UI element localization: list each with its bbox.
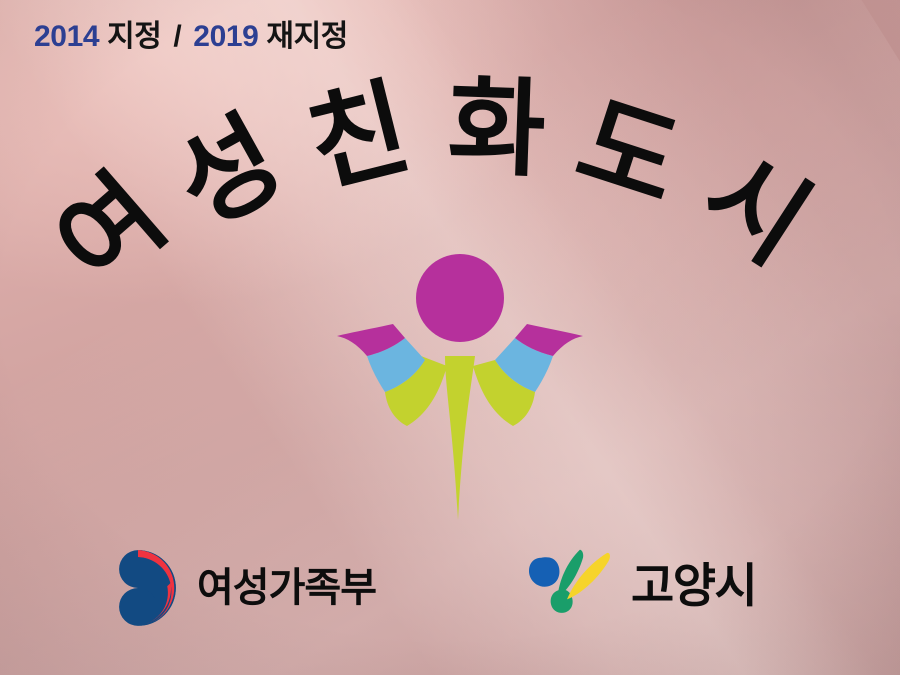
city-logo-block: 고양시 <box>527 545 756 625</box>
poster-canvas: 2014 지정 / 2019 재지정 여 성 친 화 도 시 <box>0 0 900 675</box>
designation-header: 2014 지정 / 2019 재지정 <box>34 22 348 52</box>
city-logo-label: 고양시 <box>631 562 756 609</box>
title-char-5: 도 <box>566 88 692 219</box>
designation-year-second: 2019 <box>193 20 258 53</box>
flower-emblem-icon <box>335 248 585 523</box>
ministry-logo-label: 여성가족부 <box>197 568 376 608</box>
footer-logos: 여성가족부 고양시 <box>0 537 900 647</box>
emblem-stem <box>445 356 475 520</box>
designation-year-first: 2014 <box>34 20 99 53</box>
goyang-city-mark-icon <box>527 545 615 625</box>
designation-separator: / <box>169 20 185 53</box>
title-char-6: 시 <box>686 138 826 280</box>
emblem-head-circle <box>416 254 504 342</box>
taegeuk-emblem-icon <box>95 545 181 631</box>
title-char-1: 여 <box>39 159 182 303</box>
designation-label-second: 재지정 <box>266 20 348 53</box>
designation-label-first: 지정 <box>107 20 161 53</box>
title-char-2: 성 <box>160 103 297 243</box>
ministry-logo-block: 여성가족부 <box>95 545 376 631</box>
title-char-3: 친 <box>299 74 419 200</box>
title-char-4: 화 <box>446 74 547 183</box>
